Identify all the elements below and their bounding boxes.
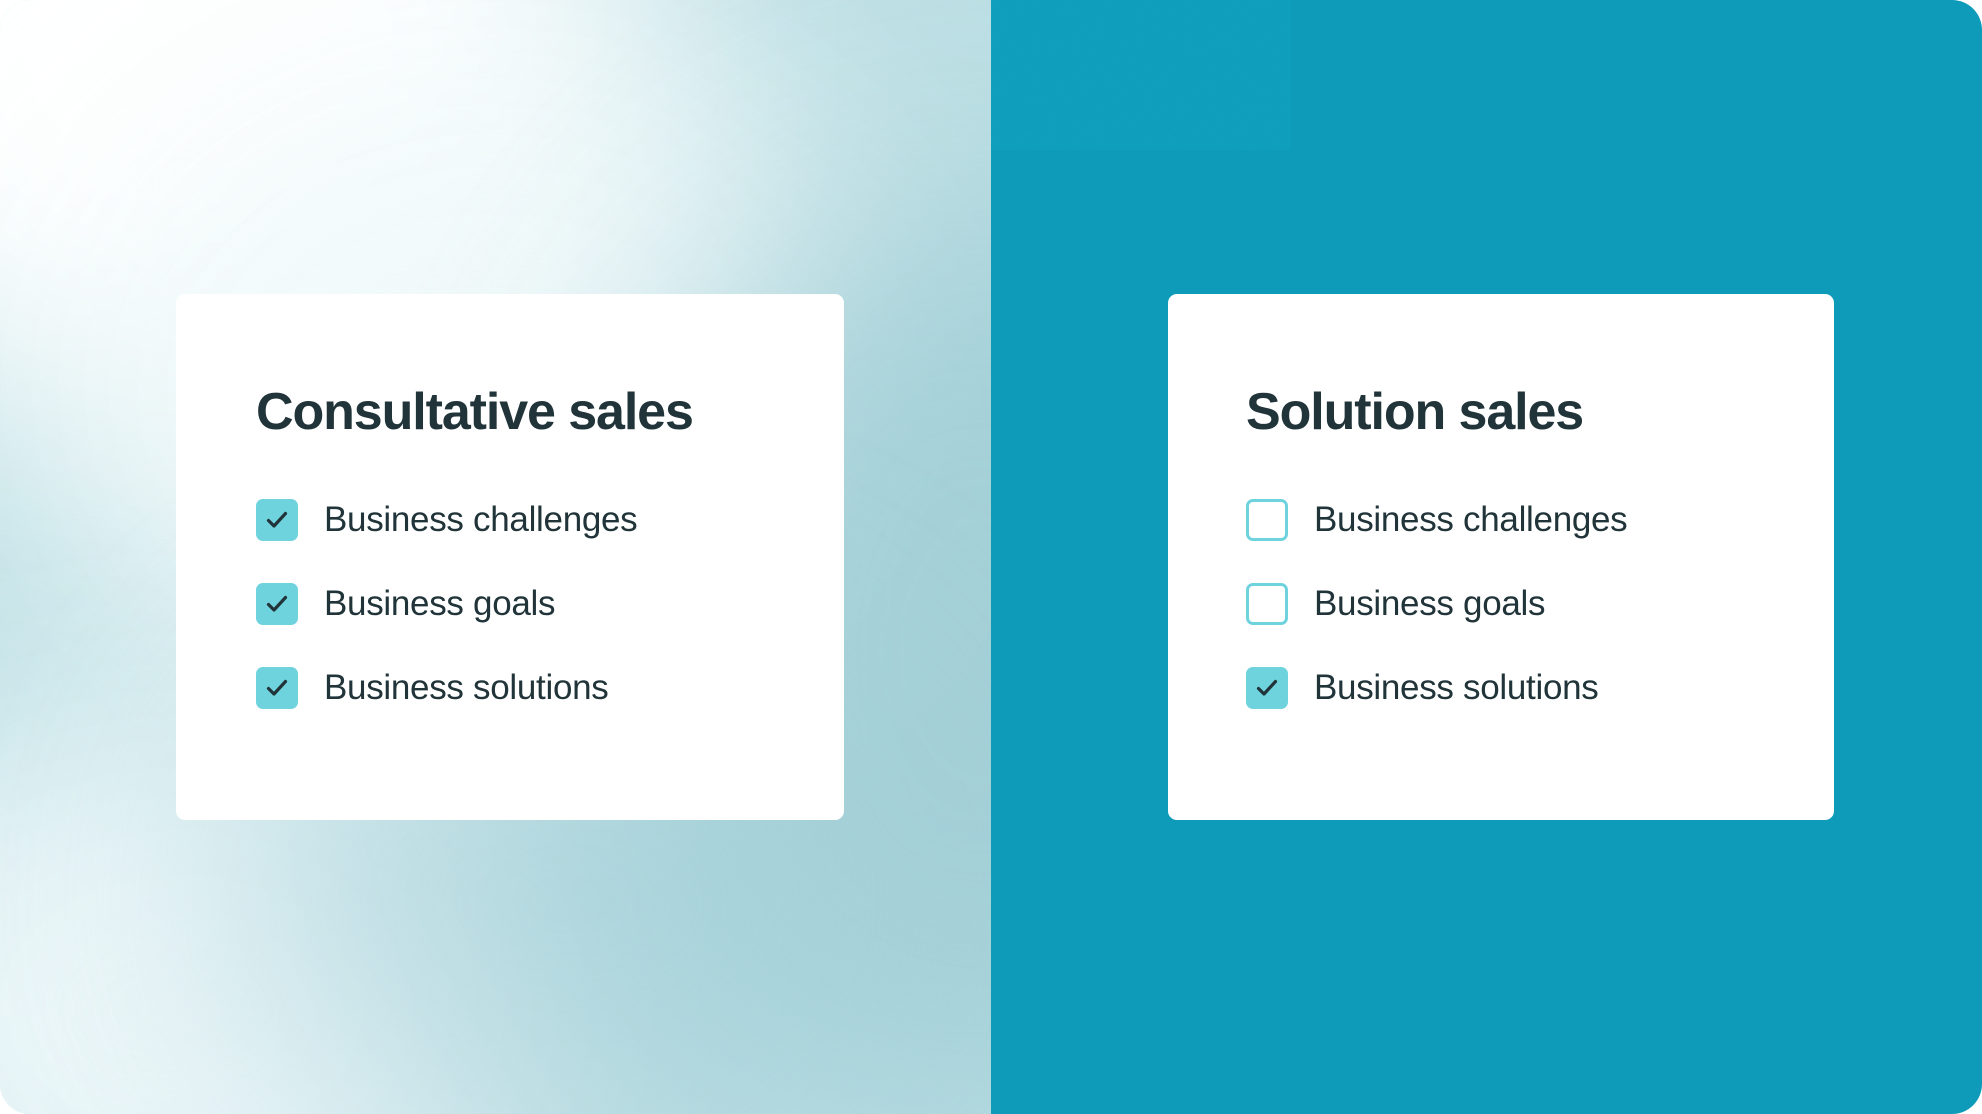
list-item-label: Business goals (324, 584, 555, 624)
checkbox-checked-icon[interactable] (1246, 667, 1288, 709)
list-item-label: Business challenges (1314, 500, 1627, 540)
card-title: Consultative sales (256, 382, 693, 442)
checkbox-unchecked-icon[interactable] (1246, 583, 1288, 625)
card-solution-sales: Solution sales Business challenges Busin… (1168, 294, 1834, 820)
list-item[interactable]: Business challenges (256, 478, 637, 562)
comparison-graphic: Consultative sales Business challenges B… (0, 0, 1982, 1114)
list-item-label: Business challenges (324, 500, 637, 540)
checklist: Business challenges Business goals Busin… (1246, 478, 1627, 730)
checkbox-checked-icon[interactable] (256, 583, 298, 625)
checkbox-checked-icon[interactable] (256, 499, 298, 541)
list-item[interactable]: Business solutions (1246, 646, 1627, 730)
card-title: Solution sales (1246, 382, 1583, 442)
list-item-label: Business goals (1314, 584, 1545, 624)
list-item[interactable]: Business goals (256, 562, 637, 646)
list-item-label: Business solutions (1314, 668, 1598, 708)
card-consultative-sales: Consultative sales Business challenges B… (176, 294, 844, 820)
film-grain-texture-right (991, 0, 1291, 150)
list-item[interactable]: Business goals (1246, 562, 1627, 646)
list-item-label: Business solutions (324, 668, 608, 708)
checkbox-checked-icon[interactable] (256, 667, 298, 709)
list-item[interactable]: Business solutions (256, 646, 637, 730)
checklist: Business challenges Business goals Busin… (256, 478, 637, 730)
checkbox-unchecked-icon[interactable] (1246, 499, 1288, 541)
list-item[interactable]: Business challenges (1246, 478, 1627, 562)
